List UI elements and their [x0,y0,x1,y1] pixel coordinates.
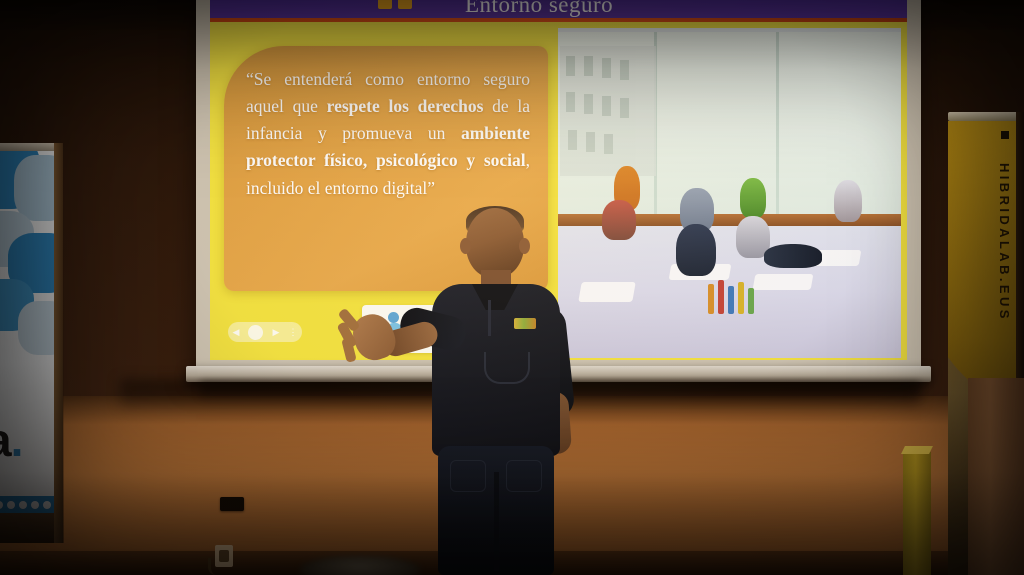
banner-left-face: a. [0,151,54,496]
left-rollup-banner: a. [0,143,64,543]
ellipsis-icon[interactable]: ⋮ [288,328,297,337]
photo-building [560,46,656,176]
slide-photo [558,28,901,358]
youtube-icon [19,501,27,509]
banner-left-foot [0,513,54,543]
presenter-lanyard [484,352,530,384]
presenter-head [466,208,524,278]
banner-right-mark-icon [1001,131,1009,139]
photo-child [676,224,716,276]
banner-right-url: HIBRIDALAB.EUS [997,163,1012,322]
chevron-left-icon[interactable]: ◀ [233,328,240,337]
banner-left-social-strip [0,496,57,513]
chevron-right-icon[interactable]: ▶ [273,328,280,337]
banner-right-top-rail [948,112,1020,121]
power-cable [208,558,221,575]
presenter-shirt-badge [514,318,536,329]
instagram-icon [0,501,3,509]
play-icon[interactable] [248,325,263,340]
photo-floor [558,226,901,358]
linkedin-icon [43,501,51,509]
banner-left-top-rail [0,143,62,151]
quote-text: “Se entenderá como entorno seguro aquel … [246,66,530,202]
wall-plate [220,497,244,511]
twitter-icon [7,501,15,509]
quote-emphasis: respete los derechos [327,96,484,116]
photo-child [764,244,822,268]
photo-child [740,178,766,218]
presenter [388,196,598,575]
banner-left-pole [54,143,63,543]
banner-left-wordmark: a. [0,413,22,467]
slide-header-logo-icon [378,0,412,9]
photo-child [602,200,636,240]
presentation-photo-scene: Entorno seguro “Se entenderá como entorn… [0,0,1024,575]
photo-child [834,180,862,222]
slide-title: Entorno seguro [465,0,613,18]
wall-pillar [968,378,1024,575]
presenter-placket [488,300,491,336]
yellow-post [903,452,931,575]
slide-playback-controls[interactable]: ◀ ▶ ⋮ [228,322,302,342]
facebook-icon [31,501,39,509]
presenter-leg-gap [494,472,499,571]
